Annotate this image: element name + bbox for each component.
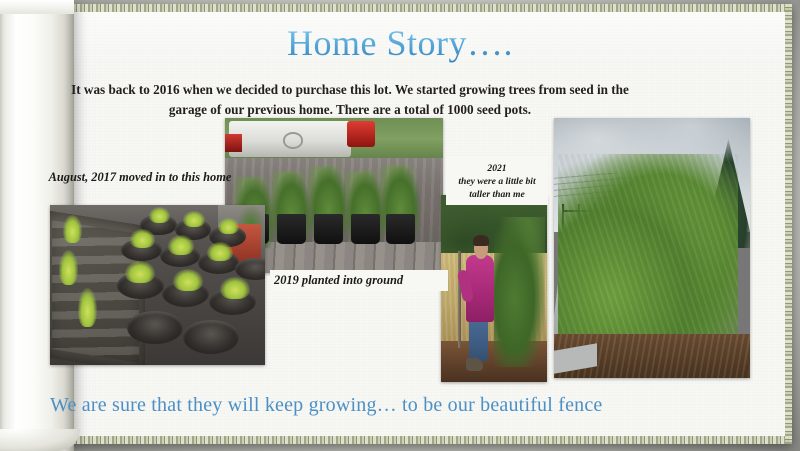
slide-title: Home Story…. [0, 22, 800, 64]
caption-2021-taller-than-me: 2021 they were a little bit taller than … [446, 158, 548, 205]
top-ribbon-border [8, 4, 792, 12]
conifer-seedling [218, 218, 240, 234]
tray-seedling [63, 215, 82, 244]
caption-2017-moved-in: August, 2017 moved in to this home [40, 168, 240, 186]
tray-seedling [78, 288, 97, 326]
person-hair [473, 235, 489, 246]
conifer-seedling [168, 235, 194, 254]
right-ribbon-border [785, 4, 792, 444]
conifer-seedling [173, 269, 203, 291]
slide-body-text: It was back to 2016 when we decided to p… [60, 80, 640, 120]
page-curl-bottom [0, 429, 80, 451]
conifer-seedling [220, 277, 250, 299]
fence-post [458, 251, 461, 348]
person-jeans [469, 317, 488, 362]
page-curl-top [0, 0, 74, 14]
conifer-seedling [149, 207, 171, 223]
caption-2019-planted: 2019 planted into ground [270, 270, 448, 291]
bottom-ribbon-border [8, 436, 792, 444]
red-taillight-left [225, 134, 242, 153]
arborvitae-hedge [558, 154, 738, 357]
tray-seedling [59, 250, 78, 285]
nursery-pot [127, 311, 183, 345]
caption-2021-year: 2021 [449, 162, 545, 175]
conifer-seedling [125, 261, 155, 283]
person-boot [466, 358, 483, 371]
young-conifer-tree [494, 217, 545, 367]
red-taillight [347, 121, 375, 147]
conifer-seedling [130, 229, 156, 248]
conifer-seedling [207, 242, 233, 261]
seedling-pots-photo [50, 205, 265, 365]
slide-closing-text: We are sure that they will keep growing…… [50, 394, 750, 417]
black-pot-5 [386, 214, 414, 243]
nursery-pot [183, 320, 239, 354]
conifer-seedling [183, 211, 205, 227]
person-beside-tree-photo [441, 195, 547, 382]
black-pot-2 [277, 214, 305, 243]
black-pot-3 [314, 214, 342, 243]
white-pickup-truck [229, 121, 351, 157]
caption-2021-line-2: they were a little bit [449, 175, 545, 188]
black-pot-4 [351, 214, 379, 243]
grown-hedge-photo [554, 118, 750, 378]
caption-2021-line-3: taller than me [449, 188, 545, 201]
presentation-slide: Home Story…. It was back to 2016 when we… [0, 0, 800, 451]
